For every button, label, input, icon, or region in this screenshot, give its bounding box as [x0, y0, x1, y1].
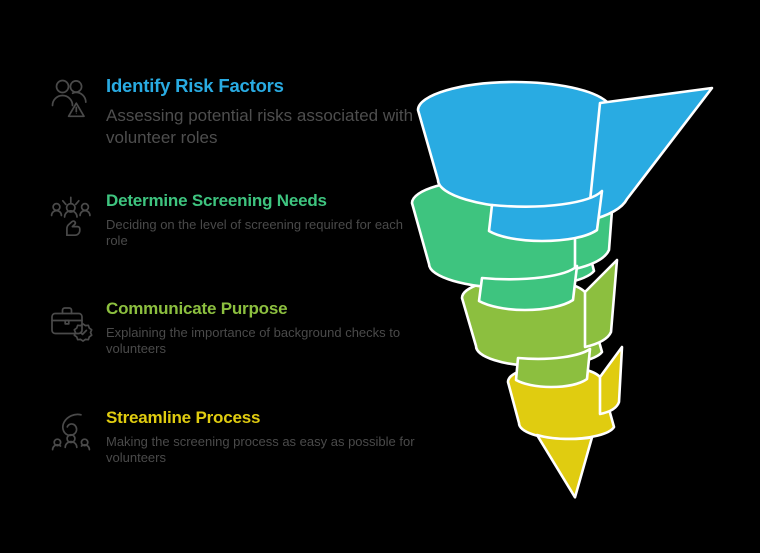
people-warning-icon: [48, 76, 94, 122]
step-text: Identify Risk Factors Assessing potentia…: [106, 76, 418, 149]
briefcase-verified-icon: [48, 300, 94, 346]
steps-list: Identify Risk Factors Assessing potentia…: [0, 0, 420, 553]
people-flow-icon: [48, 409, 94, 455]
step-item-identify-risk-factors[interactable]: Identify Risk Factors Assessing potentia…: [48, 76, 418, 149]
step-text: Determine Screening Needs Deciding on th…: [106, 192, 418, 250]
step-title: Streamline Process: [106, 409, 418, 428]
step-title: Communicate Purpose: [106, 300, 418, 319]
infographic-canvas: Identify Risk Factors Assessing potentia…: [0, 0, 760, 553]
step-description: Explaining the importance of background …: [106, 325, 418, 358]
volunteer-screening-funnel: [400, 70, 740, 520]
step-text: Streamline Process Making the screening …: [106, 409, 418, 467]
step-description: Deciding on the level of screening requi…: [106, 217, 418, 250]
step-title: Determine Screening Needs: [106, 192, 418, 211]
step-item-streamline-process[interactable]: Streamline Process Making the screening …: [48, 409, 418, 467]
people-selection-hand-icon: [48, 192, 94, 238]
step-text: Communicate Purpose Explaining the impor…: [106, 300, 418, 358]
step-item-communicate-purpose[interactable]: Communicate Purpose Explaining the impor…: [48, 300, 418, 358]
step-description: Making the screening process as easy as …: [106, 434, 418, 467]
step-item-determine-screening-needs[interactable]: Determine Screening Needs Deciding on th…: [48, 192, 418, 250]
step-title: Identify Risk Factors: [106, 76, 418, 96]
step-description: Assessing potential risks associated wit…: [106, 105, 418, 149]
